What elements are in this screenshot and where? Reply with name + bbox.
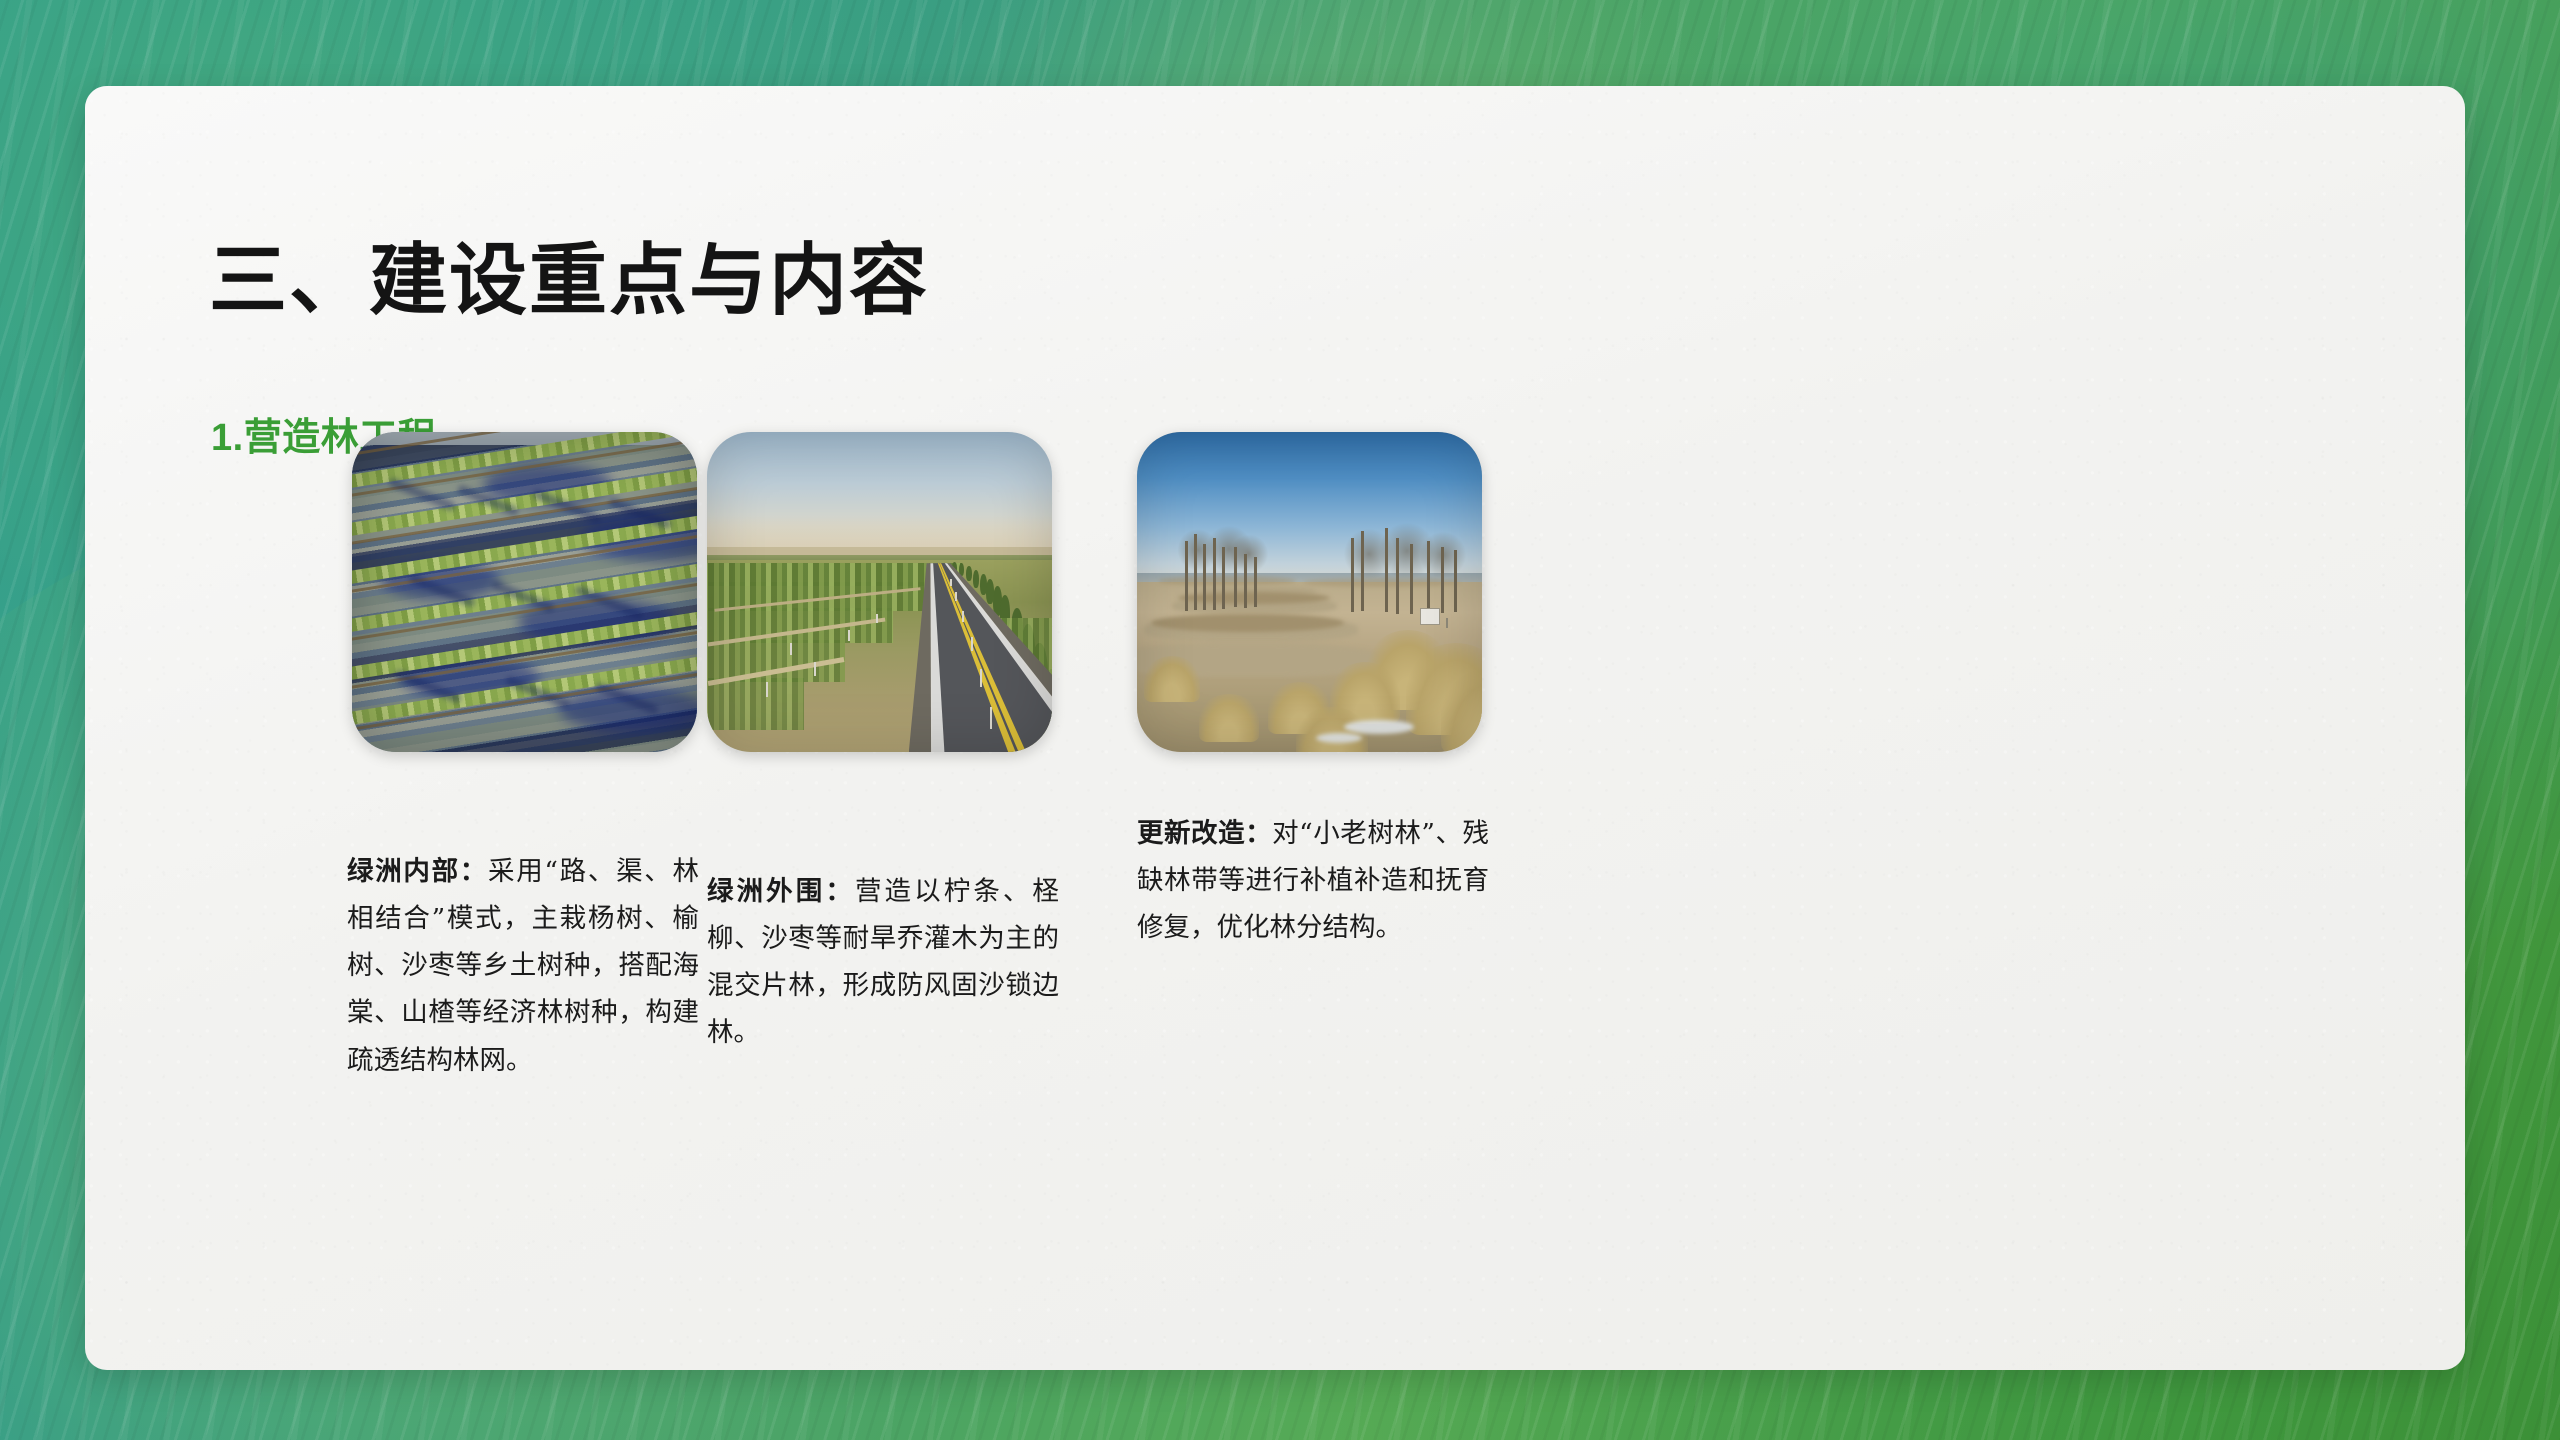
caption-1-body: 采用“路、渠、林相结合”模式，主栽杨树、榆树、沙枣等乡土树种，搭配海棠、山楂等经… — [347, 856, 699, 1076]
caption-3-lead: 更新改造： — [1137, 818, 1272, 849]
caption-2-lead: 绿洲外围： — [707, 876, 855, 907]
photo-aerial-farmland — [352, 432, 697, 752]
page-title: 三、建设重点与内容 — [209, 234, 929, 328]
caption-1: 绿洲内部：采用“路、渠、林相结合”模式，主栽杨树、榆树、沙枣等乡土树种，搭配海棠… — [347, 848, 699, 1084]
caption-3: 更新改造：对“小老树林”、残缺林带等进行补植补造和抚育修复，优化林分结构。 — [1137, 810, 1489, 951]
caption-1-lead: 绿洲内部： — [347, 856, 488, 887]
photo-barren-land — [1137, 432, 1482, 752]
content-card: 三、建设重点与内容 1.营造林工程 — [85, 86, 2465, 1370]
content-column-3: 更新改造：对“小老树林”、残缺林带等进行补植补造和抚育修复，优化林分结构。 — [1137, 432, 1837, 951]
caption-2: 绿洲外围：营造以柠条、柽柳、沙枣等耐旱乔灌木为主的混交片林，形成防风固沙锁边林。 — [707, 868, 1059, 1057]
slide: 三、建设重点与内容 1.营造林工程 — [0, 0, 2560, 1440]
photo-desert-highway — [707, 432, 1052, 752]
columns-container: 绿洲内部：采用“路、渠、林相结合”模式，主栽杨树、榆树、沙枣等乡土树种，搭配海棠… — [189, 432, 2465, 1232]
